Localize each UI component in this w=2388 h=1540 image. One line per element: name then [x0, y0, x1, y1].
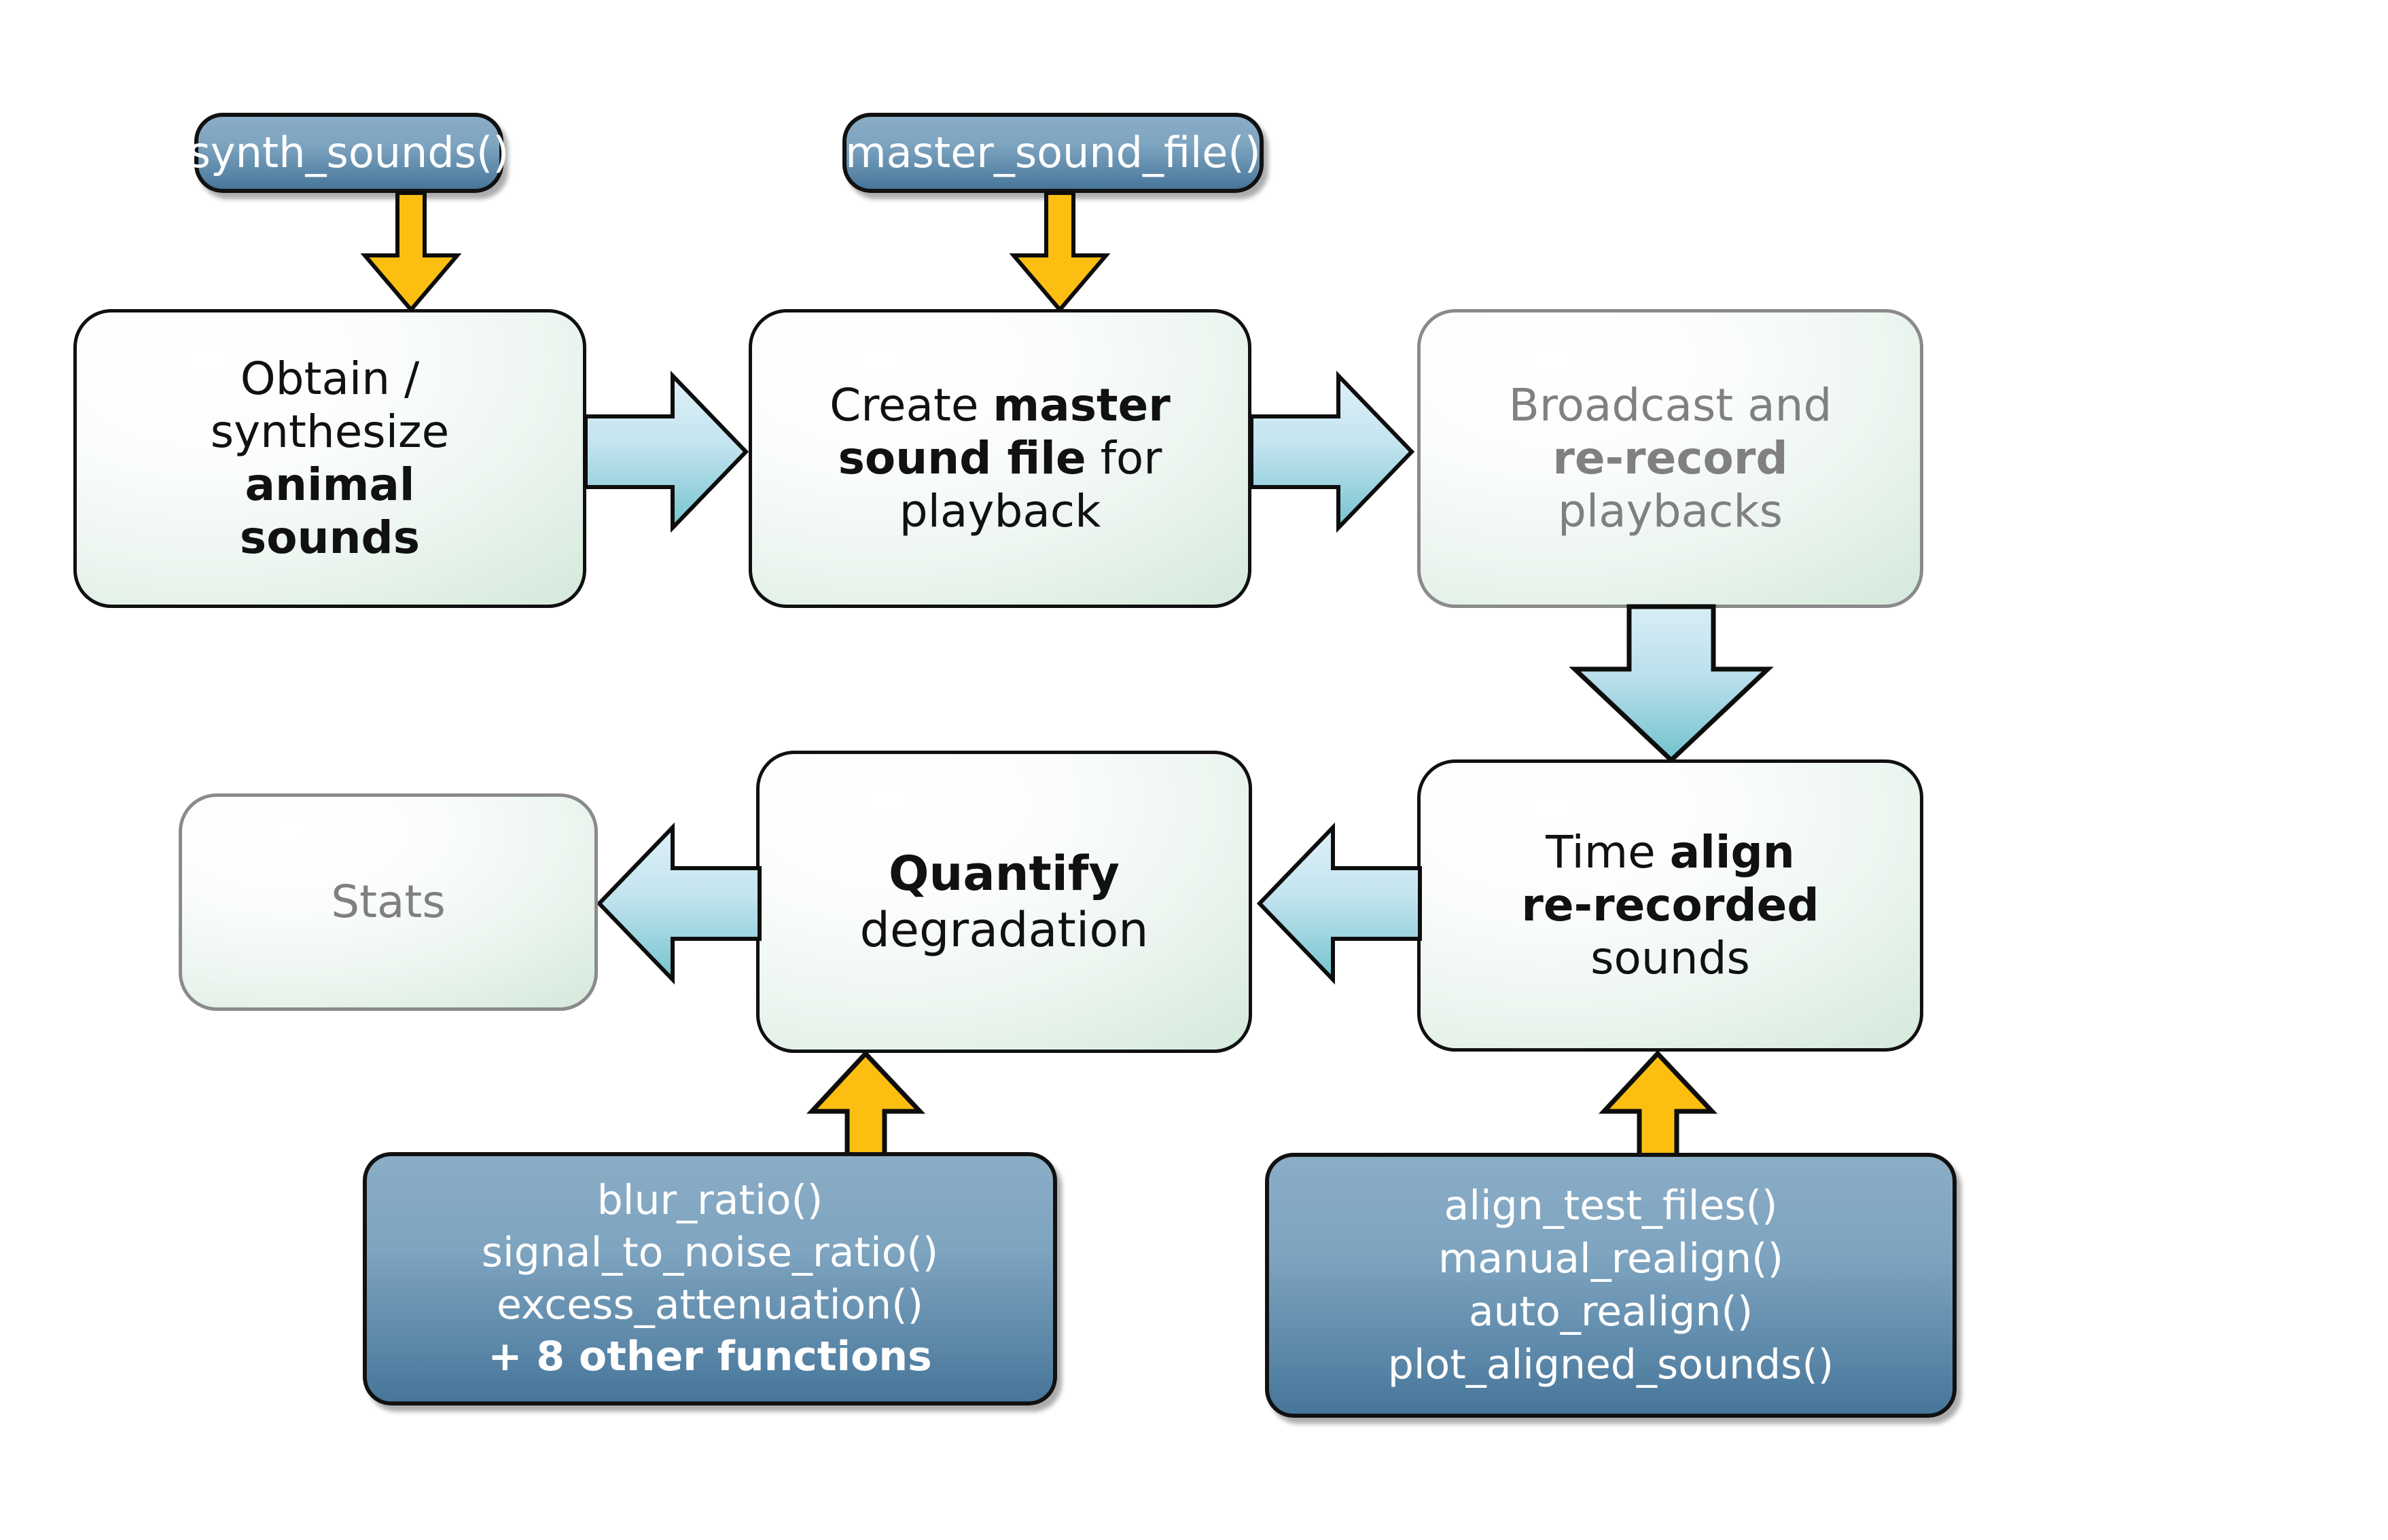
function-list-align: align_test_files() manual_realign() auto…	[1388, 1179, 1834, 1391]
function-box-synth-sounds[interactable]: synth_sounds()	[194, 113, 503, 193]
arrow-create-to-broadcast	[1251, 363, 1414, 540]
process-label-time-align: Time align re-recorded sounds	[1521, 826, 1819, 985]
arrow-obtain-to-create	[586, 363, 749, 540]
process-label-obtain-synthesize: Obtain / synthesize animal sounds	[211, 353, 450, 565]
function-label-synth-sounds: synth_sounds()	[189, 128, 510, 177]
process-box-broadcast-rerecord[interactable]: Broadcast and re-record playbacks	[1417, 309, 1923, 608]
function-list-quantify: blur_ratio() signal_to_noise_ratio() exc…	[482, 1175, 938, 1383]
arrow-synth-to-obtain	[357, 193, 465, 312]
process-label-broadcast-rerecord: Broadcast and re-record playbacks	[1509, 379, 1832, 538]
arrow-master-to-create	[1005, 193, 1114, 312]
process-label-stats: Stats	[331, 876, 445, 929]
process-box-time-align[interactable]: Time align re-recorded sounds	[1417, 759, 1923, 1052]
arrow-quantify-to-stats	[593, 815, 760, 992]
process-label-create-master: Create master sound file for playback	[830, 379, 1171, 538]
arrow-align-to-quantify	[1253, 815, 1420, 992]
function-box-master-sound-file[interactable]: master_sound_file()	[842, 113, 1264, 193]
arrow-quantfns-to-quantify	[803, 1052, 929, 1164]
arrow-broadcast-to-align	[1563, 607, 1780, 763]
function-box-align-functions[interactable]: align_test_files() manual_realign() auto…	[1265, 1153, 1957, 1418]
arrow-alignfns-to-align	[1595, 1052, 1721, 1164]
process-box-quantify-degradation[interactable]: Quantify degradation	[756, 751, 1252, 1053]
process-box-create-master[interactable]: Create master sound file for playback	[749, 309, 1251, 608]
function-box-quantify-functions[interactable]: blur_ratio() signal_to_noise_ratio() exc…	[363, 1152, 1057, 1405]
function-label-master-sound-file: master_sound_file()	[845, 128, 1261, 177]
process-label-quantify-degradation: Quantify degradation	[859, 846, 1148, 958]
process-box-stats[interactable]: Stats	[179, 793, 598, 1011]
process-box-obtain-synthesize[interactable]: Obtain / synthesize animal sounds	[73, 309, 586, 608]
flowchart-canvas: synth_sounds() master_sound_file() Obtai…	[0, 0, 2388, 1540]
